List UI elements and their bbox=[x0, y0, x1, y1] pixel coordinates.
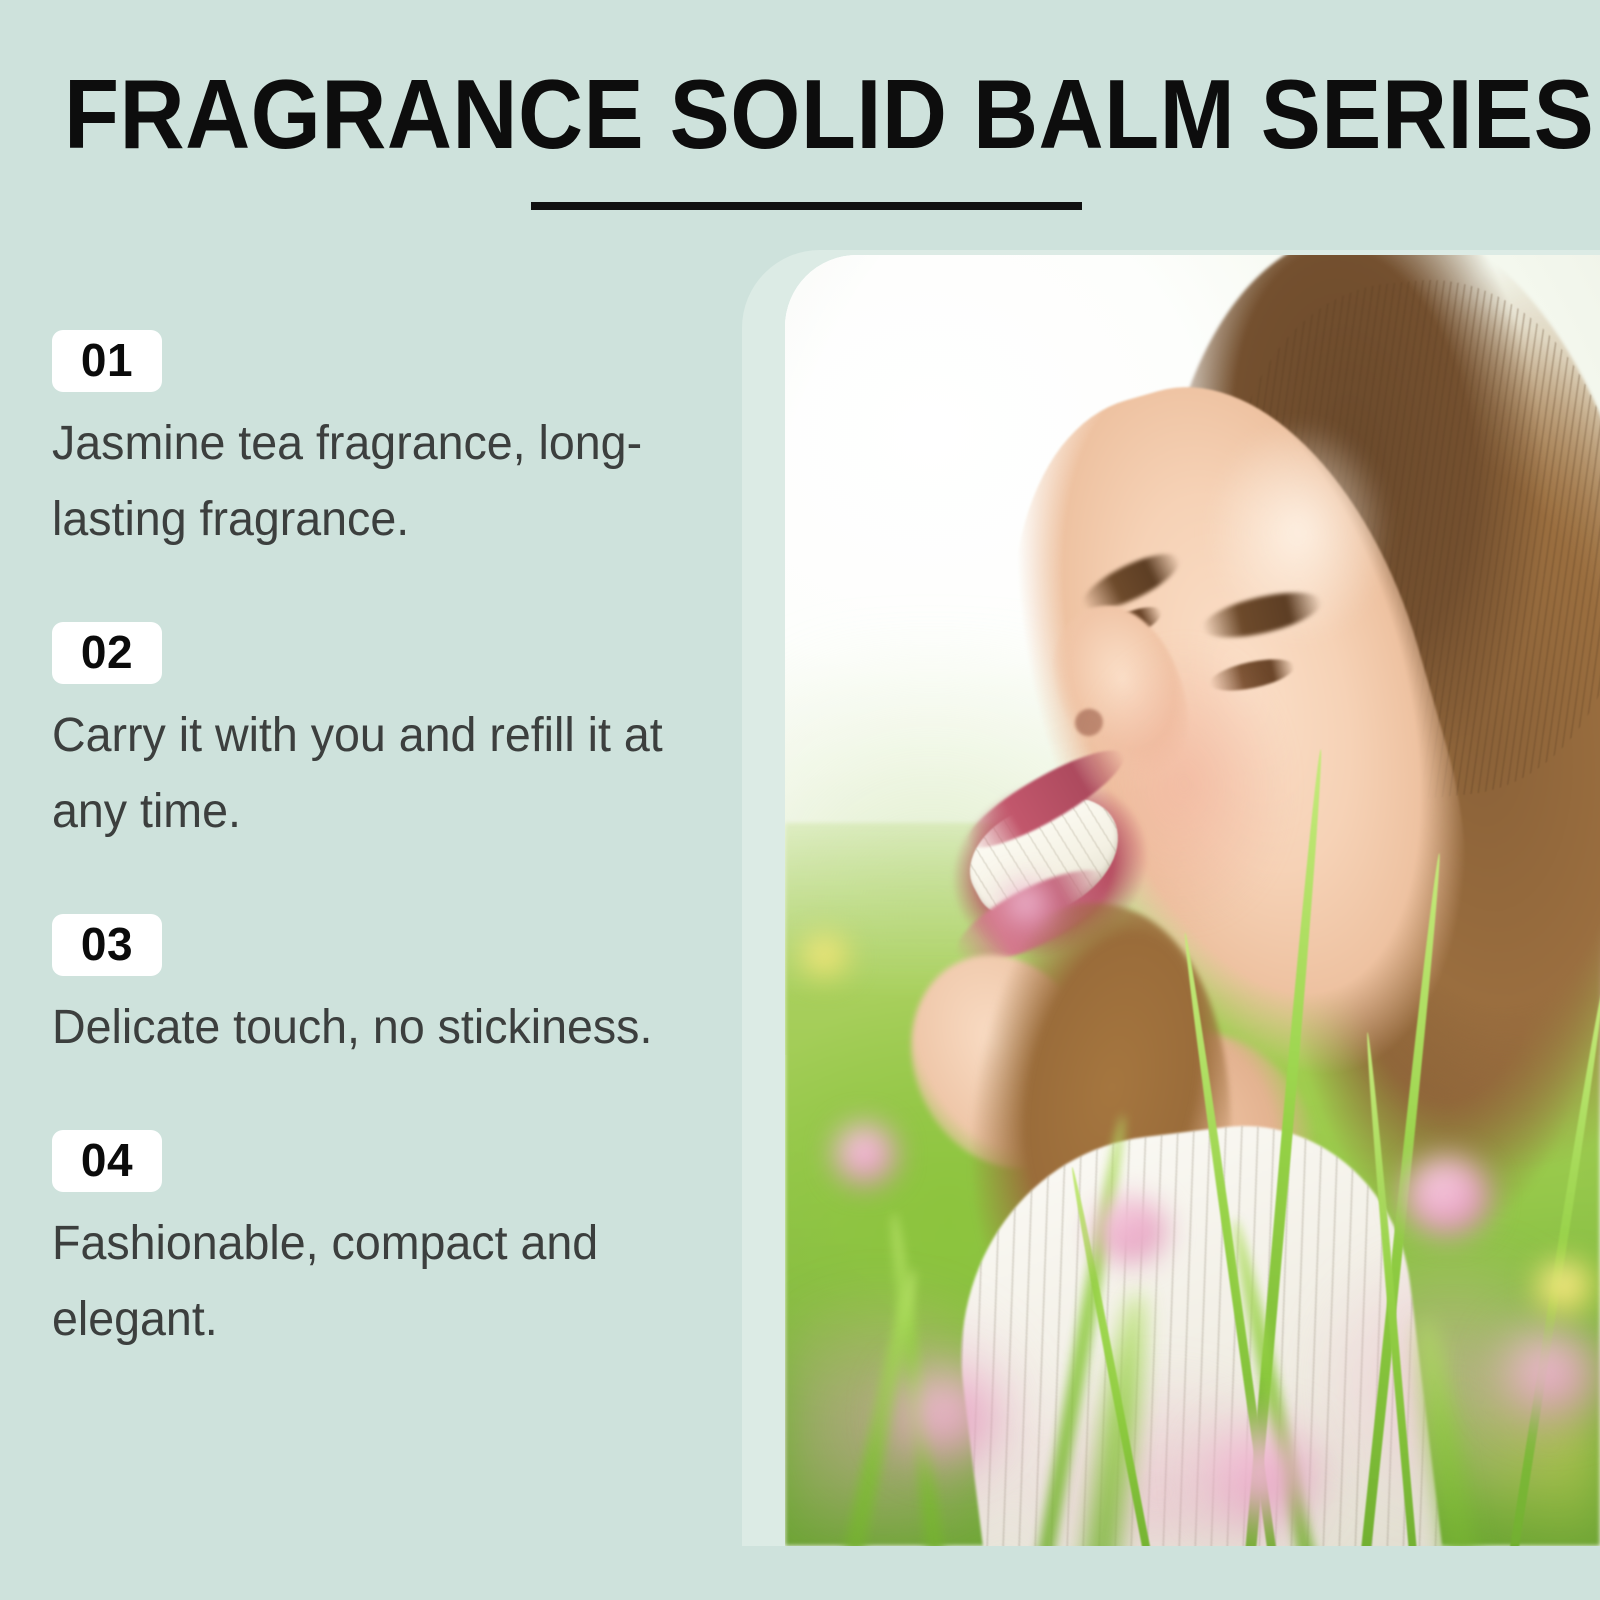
feature-number-badge-03: 03 bbox=[52, 914, 162, 976]
feature-item-01: 01 Jasmine tea fragrance, long-lasting f… bbox=[52, 330, 712, 558]
feature-item-02: 02 Carry it with you and refill it at an… bbox=[52, 622, 712, 850]
feature-number-badge-01: 01 bbox=[52, 330, 162, 392]
photo-clover-flower bbox=[1095, 1198, 1165, 1262]
photo-clover-flower bbox=[899, 1372, 991, 1456]
feature-number-badge-04: 04 bbox=[52, 1130, 162, 1192]
feature-item-04: 04 Fashionable, compact and elegant. bbox=[52, 1130, 712, 1358]
photo-clover-flower bbox=[1404, 1156, 1490, 1236]
feature-text-01: Jasmine tea fragrance, long-lasting frag… bbox=[52, 406, 692, 558]
photo-clover-flower bbox=[834, 1123, 896, 1185]
feature-list: 01 Jasmine tea fragrance, long-lasting f… bbox=[52, 330, 712, 1358]
photo-clover-flower bbox=[1502, 1331, 1598, 1417]
title-underline-rule bbox=[531, 202, 1082, 210]
feature-item-03: 03 Delicate touch, no stickiness. bbox=[52, 914, 712, 1066]
photo-clover-flower bbox=[1209, 1428, 1313, 1520]
lifestyle-photo bbox=[785, 255, 1600, 1546]
feature-text-04: Fashionable, compact and elegant. bbox=[52, 1206, 692, 1358]
photo-yellow-bokeh bbox=[801, 934, 849, 978]
feature-number-badge-02: 02 bbox=[52, 622, 162, 684]
page-title: FRAGRANCE SOLID BALM SERIES bbox=[64, 62, 1536, 166]
feature-text-02: Carry it with you and refill it at any t… bbox=[52, 698, 692, 850]
poster-root: FRAGRANCE SOLID BALM SERIES 01 Jasmine t… bbox=[0, 0, 1600, 1600]
photo-yellow-bokeh bbox=[1535, 1260, 1595, 1314]
feature-text-03: Delicate touch, no stickiness. bbox=[52, 990, 692, 1066]
title-block: FRAGRANCE SOLID BALM SERIES bbox=[0, 62, 1600, 166]
